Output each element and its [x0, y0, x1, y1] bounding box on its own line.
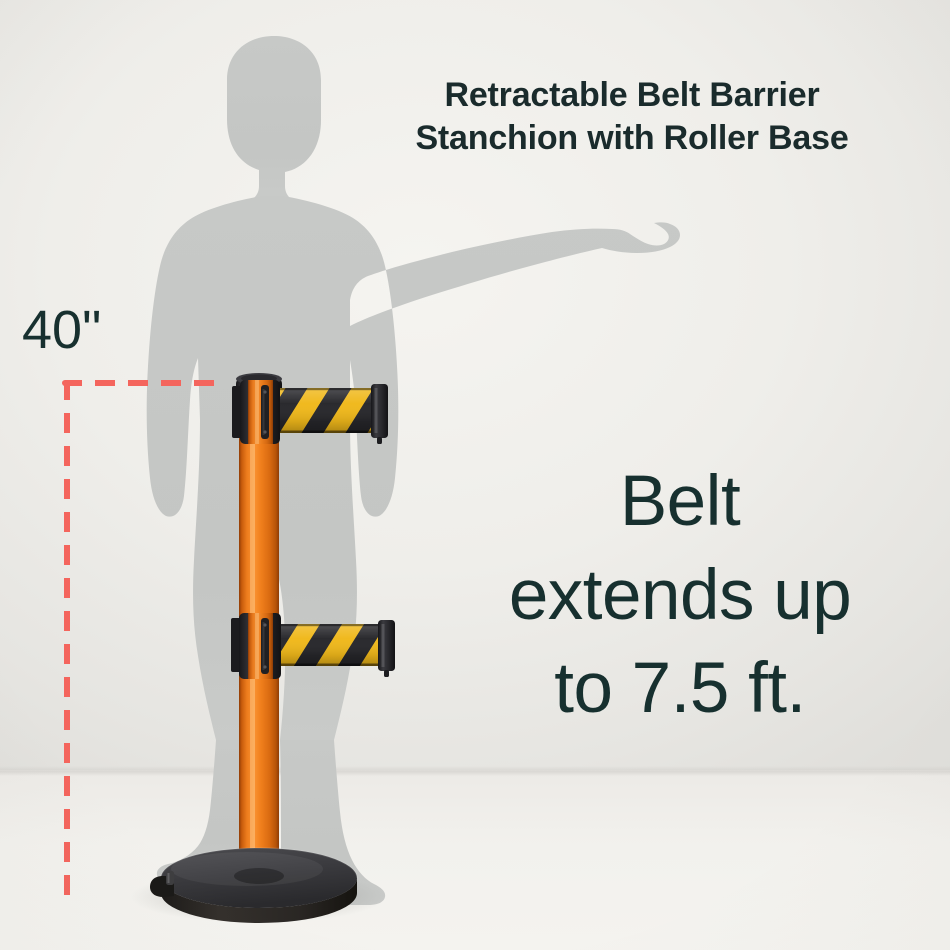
upper-belt-head-housing — [232, 380, 280, 444]
lower-belt-assembly — [231, 613, 395, 679]
caption-line-3: to 7.5 ft. — [430, 642, 930, 736]
caption-line-2: extends up — [430, 549, 930, 643]
headline-line-2: Stanchion with Roller Base — [332, 117, 932, 160]
upper-belt-webbing — [279, 388, 375, 433]
product-marketing-image: 40" — [0, 0, 950, 950]
caption-line-1: Belt — [430, 455, 930, 549]
headline-line-1: Retractable Belt Barrier — [332, 74, 932, 117]
lower-belt-end-clip[interactable] — [378, 620, 395, 677]
upper-belt-end-clip[interactable] — [371, 384, 388, 444]
upper-belt-assembly — [232, 380, 388, 444]
lower-belt-webbing — [279, 624, 382, 666]
lower-belt-head-housing — [231, 613, 281, 679]
belt-extension-caption: Belt extends up to 7.5 ft. — [430, 455, 930, 736]
product-headline: Retractable Belt Barrier Stanchion with … — [332, 74, 932, 160]
